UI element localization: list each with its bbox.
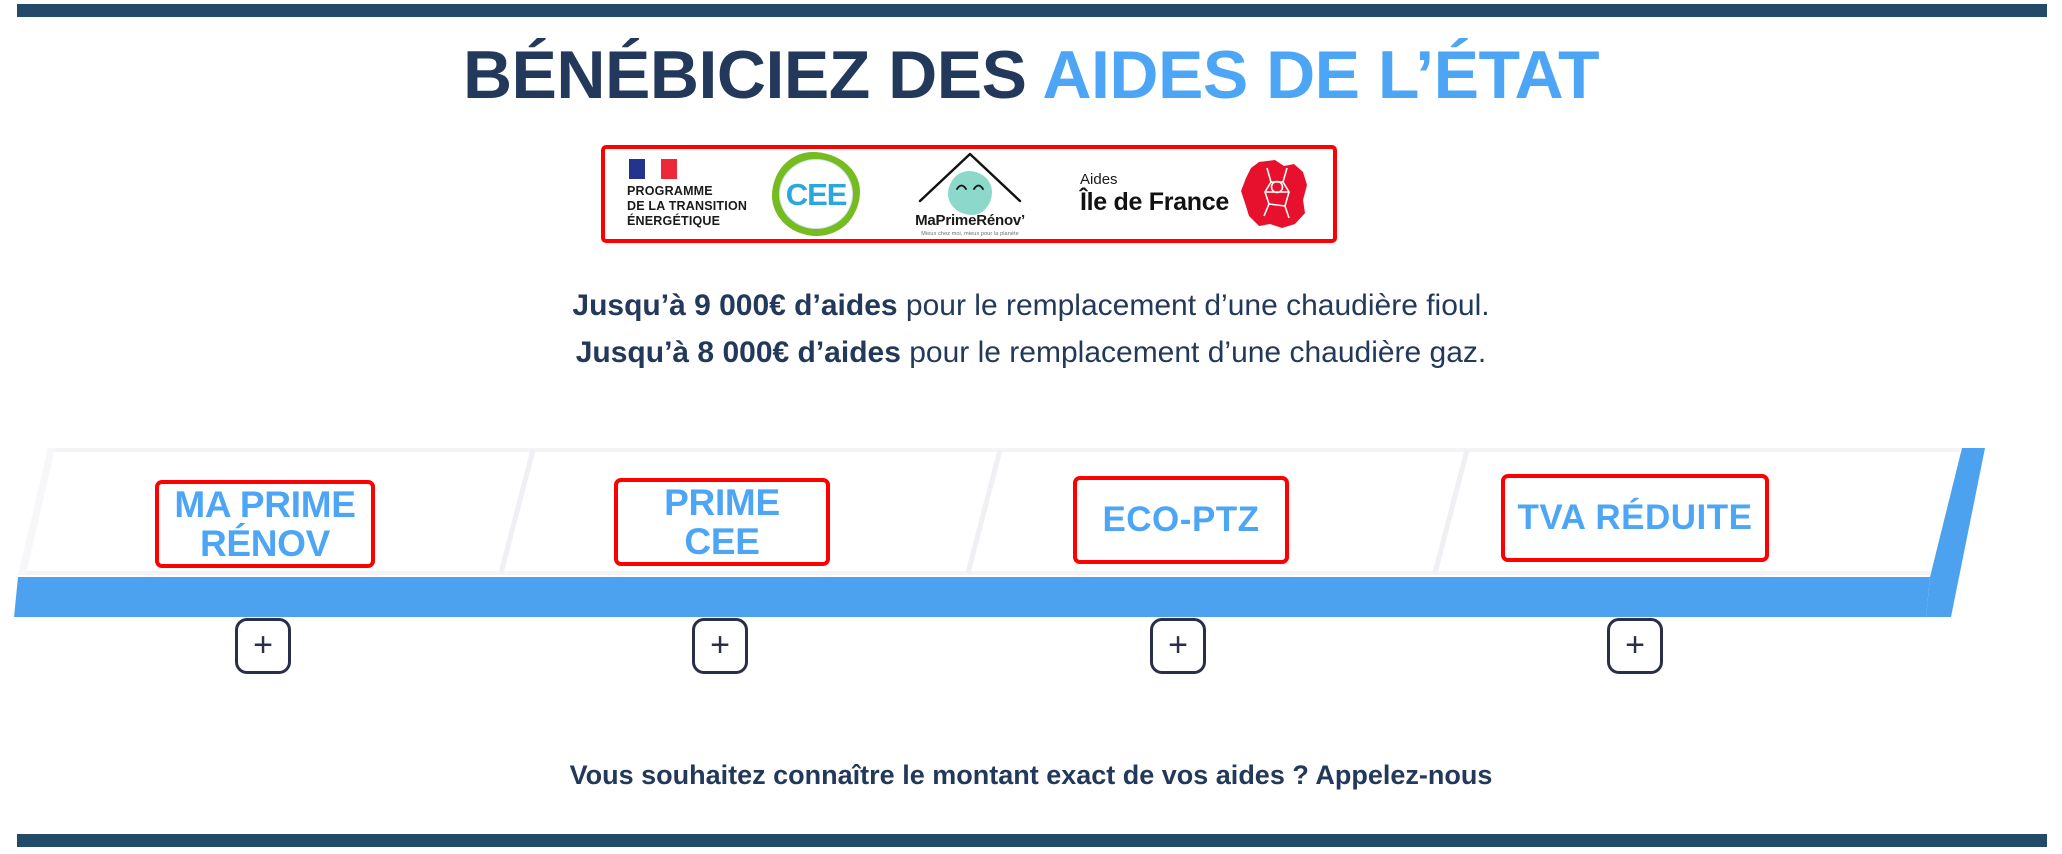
cee-inner-circle: CEE: [779, 159, 853, 229]
page-title-part-light: AIDES DE L’ÉTAT: [1042, 37, 1599, 113]
aid-amount-lines: Jusqu’à 9 000€ d’aides pour le remplacem…: [0, 283, 2062, 376]
plus-icon: +: [1625, 628, 1645, 662]
aids-ribbon: MA PRIME RÉNOV + PRIME CEE + ECO-PTZ + T…: [0, 440, 2062, 665]
aid-amount-bold: Jusqu’à 8 000€ d’aides: [576, 336, 901, 369]
maprimerenov-tagline: Mieux chez moi, mieux pour la planète: [921, 231, 1019, 237]
contact-question: Vous souhaitez connaître le montant exac…: [0, 760, 2062, 791]
expand-button-eco-ptz[interactable]: +: [1150, 618, 1206, 674]
aid-label-line1: TVA RÉDUITE: [1518, 499, 1753, 536]
cee-logo: CEE: [772, 152, 860, 236]
maprimerenov-logo: MaPrimeRénov’ Mieux chez moi, mieux pour…: [885, 151, 1055, 237]
ribbon-blue-bar: [14, 577, 1930, 617]
expand-button-prime-cee[interactable]: +: [692, 618, 748, 674]
aides-ile-de-france-text: Aides Île de France: [1080, 172, 1229, 217]
french-flag-icon: [629, 159, 677, 179]
aides-ile-de-france-logo: Aides Île de France: [1080, 158, 1311, 230]
aid-label-line2: RÉNOV: [174, 524, 355, 563]
programme-transition-energetique-label: PROGRAMME DE LA TRANSITION ÉNERGÉTIQUE: [627, 184, 747, 230]
aides-ile-de-france-line2: Île de France: [1080, 188, 1229, 216]
bottom-divider-bar: [17, 834, 2047, 847]
expand-button-tva-reduite[interactable]: +: [1607, 618, 1663, 674]
aid-label-line1: PRIME: [664, 483, 780, 522]
aid-amount-line: Jusqu’à 8 000€ d’aides pour le remplacem…: [0, 330, 2062, 377]
aid-box-ma-prime-renov[interactable]: MA PRIME RÉNOV: [155, 480, 375, 568]
aid-amount-rest: pour le remplacement d’une chaudière fio…: [898, 289, 1490, 322]
page-root: BÉNÉBICIEZ DES AIDES DE L’ÉTAT PROGRAMME…: [0, 0, 2062, 854]
aid-label-line1: ECO-PTZ: [1102, 501, 1259, 538]
aid-amount-bold: Jusqu’à 9 000€ d’aides: [572, 289, 897, 322]
aid-box-eco-ptz[interactable]: ECO-PTZ: [1073, 476, 1289, 564]
aid-amount-line: Jusqu’à 9 000€ d’aides pour le remplacem…: [0, 283, 2062, 330]
smiling-eyes-icon: [956, 182, 984, 192]
plus-icon: +: [253, 628, 273, 662]
plus-icon: +: [710, 628, 730, 662]
aid-amount-rest: pour le remplacement d’une chaudière gaz…: [901, 336, 1486, 369]
ile-de-france-map-icon: [1237, 158, 1311, 230]
plus-icon: +: [1168, 628, 1188, 662]
partner-logos-strip: PROGRAMME DE LA TRANSITION ÉNERGÉTIQUE C…: [601, 145, 1337, 243]
maprimerenov-mark: [917, 151, 1023, 211]
page-title: BÉNÉBICIEZ DES AIDES DE L’ÉTAT: [0, 38, 2062, 113]
expand-button-ma-prime-renov[interactable]: +: [235, 618, 291, 674]
maprimerenov-face-icon: [948, 171, 992, 215]
cee-label: CEE: [786, 179, 847, 210]
top-divider-bar: [17, 4, 2047, 17]
aid-box-tva-reduite[interactable]: TVA RÉDUITE: [1501, 474, 1769, 562]
aid-label-line1: MA PRIME: [174, 485, 355, 524]
programme-transition-energetique-logo: PROGRAMME DE LA TRANSITION ÉNERGÉTIQUE: [627, 159, 747, 230]
aides-ile-de-france-line1: Aides: [1080, 172, 1229, 189]
page-title-part-dark: BÉNÉBICIEZ DES: [463, 37, 1042, 113]
aid-box-prime-cee[interactable]: PRIME CEE: [614, 478, 830, 566]
aid-label-line2: CEE: [664, 522, 780, 561]
